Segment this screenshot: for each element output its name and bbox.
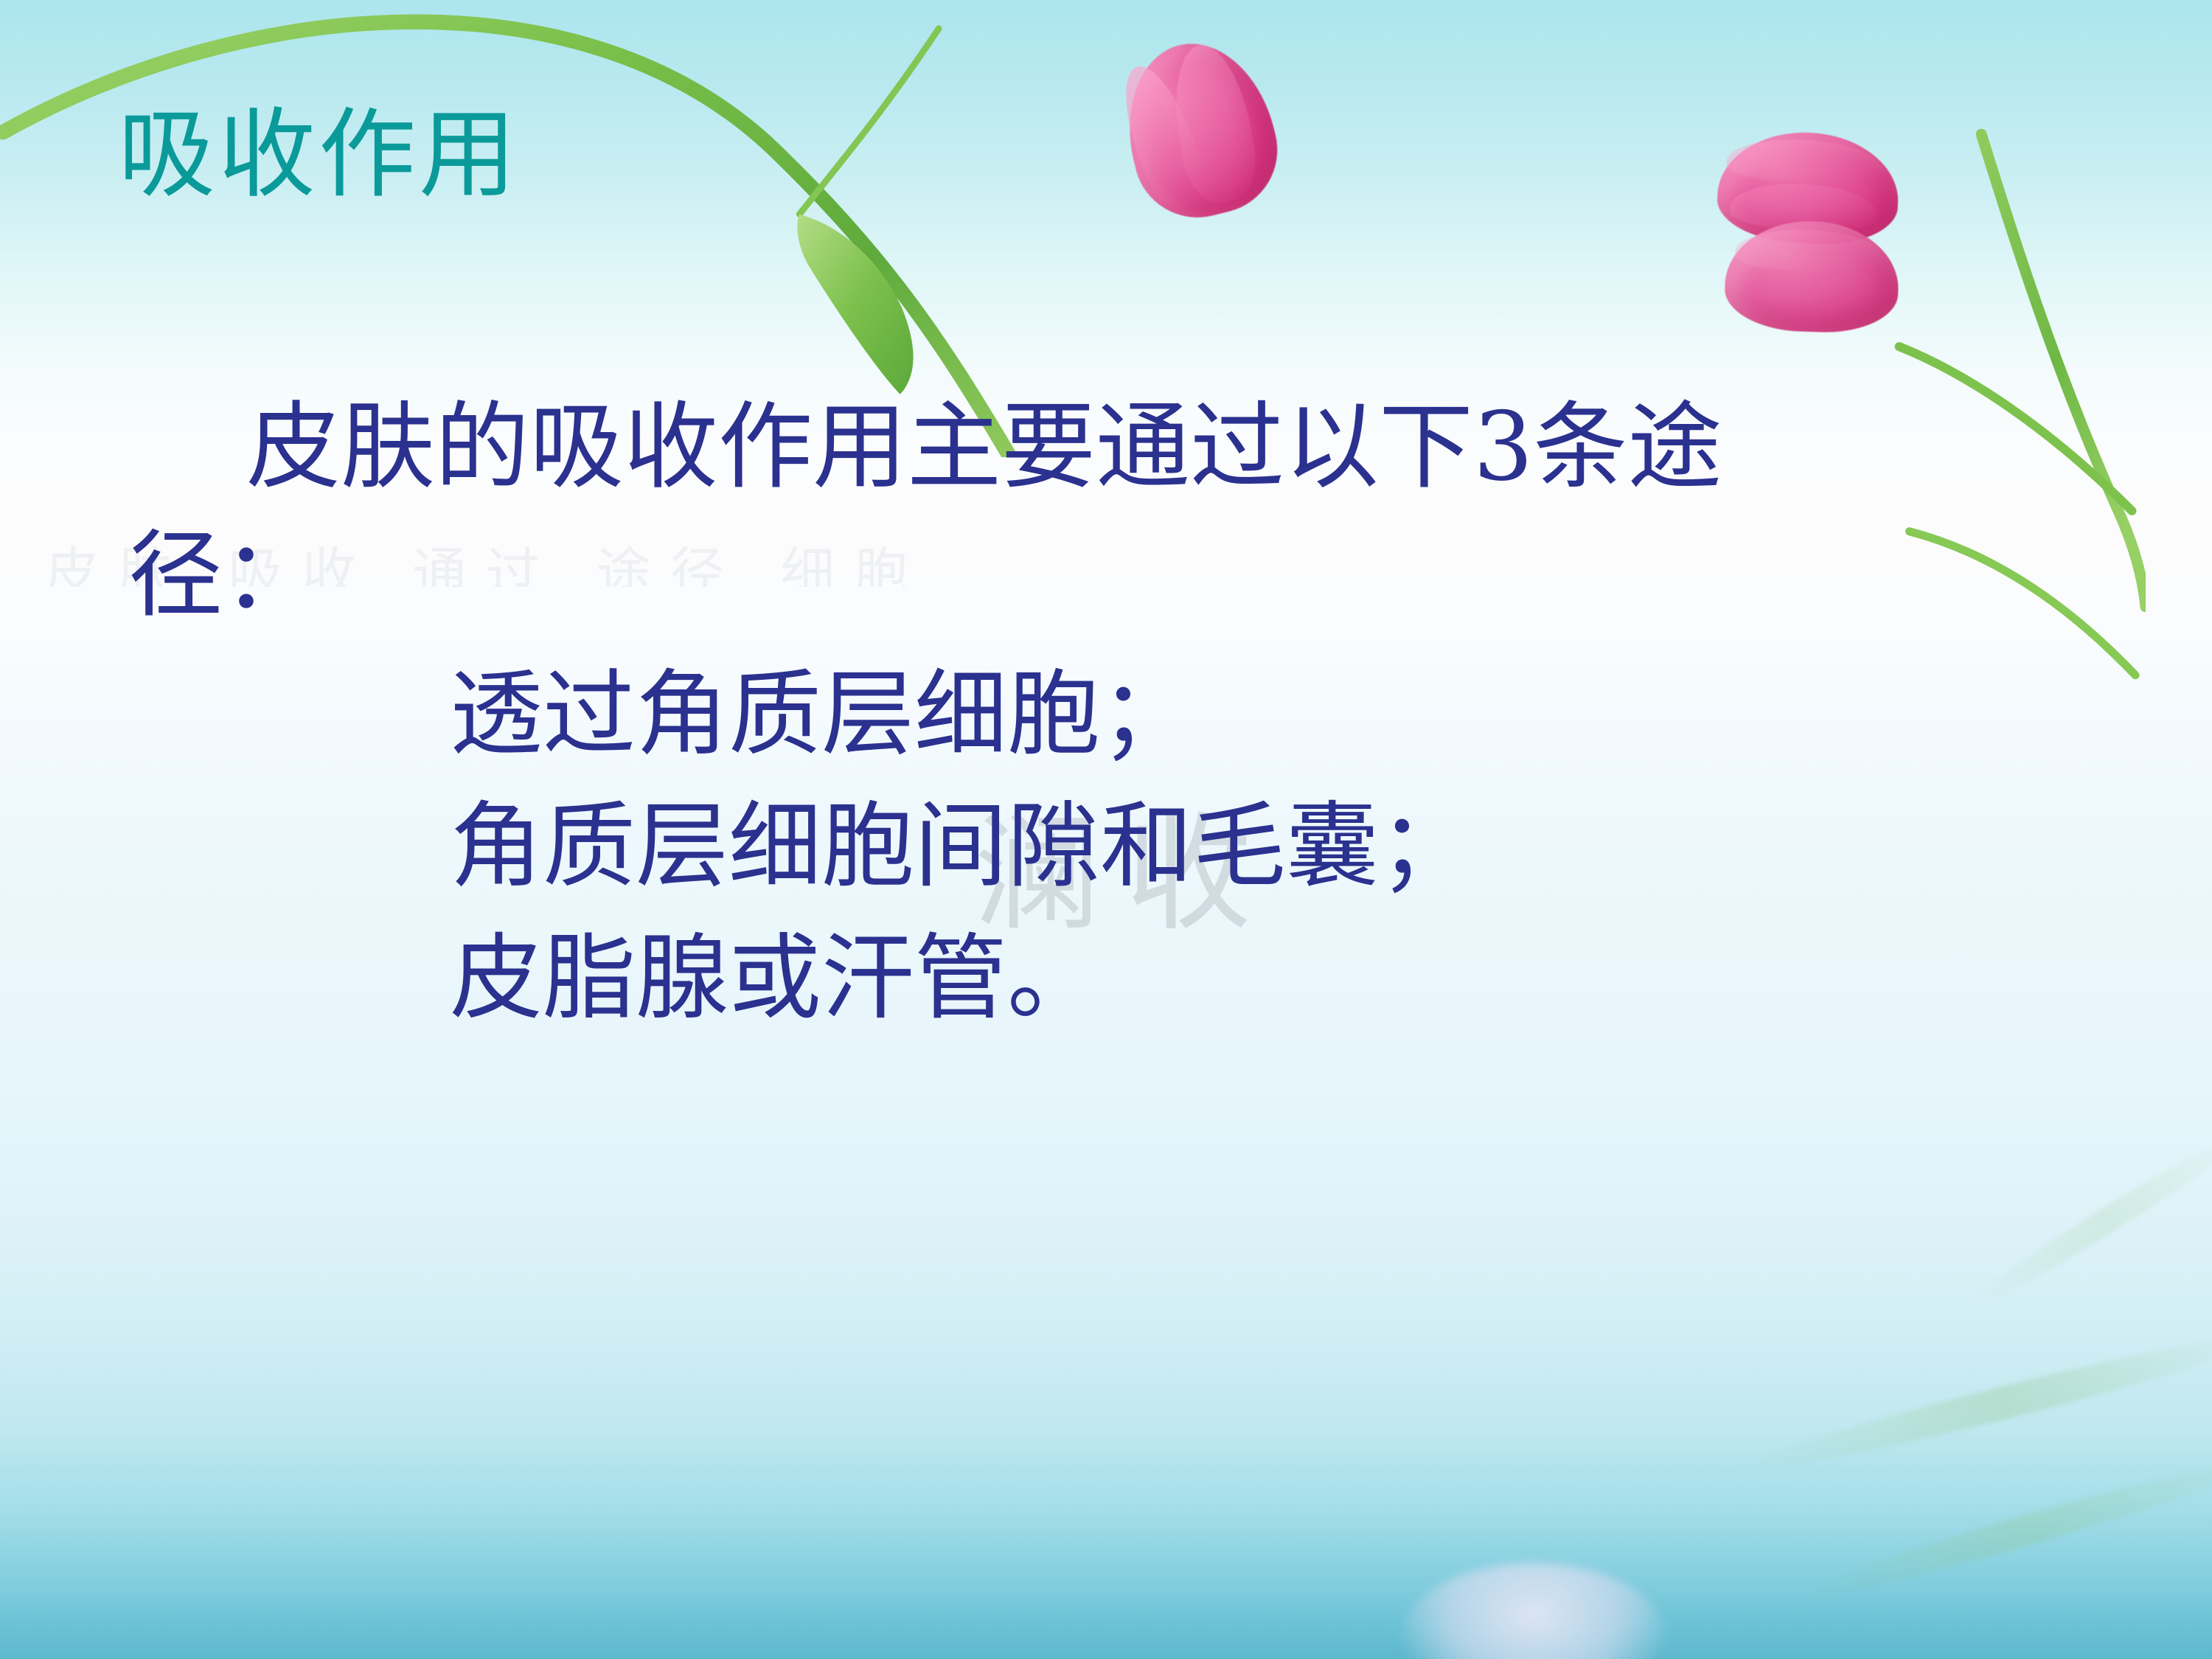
tulip-petal [1110,57,1214,215]
faded-leaf-lower [1797,1451,2212,1610]
faded-leaf-upper [1751,1324,2212,1481]
list-item: 透过角质层细胞； [450,649,2072,781]
tulip-petal [1734,227,1883,274]
bottom-reflection-blob [1401,1563,1666,1659]
list-item: 皮脂腺或汗管。 [450,913,2072,1045]
bullet-list: 透过角质层细胞； 角质层细胞间隙和毛囊； 皮脂腺或汗管。 [450,649,2072,1045]
paragraph-line-2: 径： [184,512,2072,640]
body-paragraph: 皮肤的吸收作用主要通过以下3条途 径： [184,383,2072,640]
tulip-petal [1729,181,1879,234]
tulip-blossom-left [1109,28,1290,231]
list-item: 角质层细胞间隙和毛囊； [450,781,2072,913]
tulip-blossom-lower-right [1723,218,1900,335]
faded-leaf-far [1964,1127,2212,1317]
tulip-petal [1726,136,1883,187]
presentation-slide: 皮肤 吸收 通过 途径 细胞 澜收 吸收作用 皮肤的吸收作用主要通过以下3条途 … [0,0,2212,1659]
paragraph-line-1: 皮肤的吸收作用主要通过以下3条途 [184,383,2072,512]
tulip-petal [1164,39,1263,208]
page-title: 吸收作用 [118,94,519,216]
tulip-blossom-upper-right [1715,128,1902,248]
